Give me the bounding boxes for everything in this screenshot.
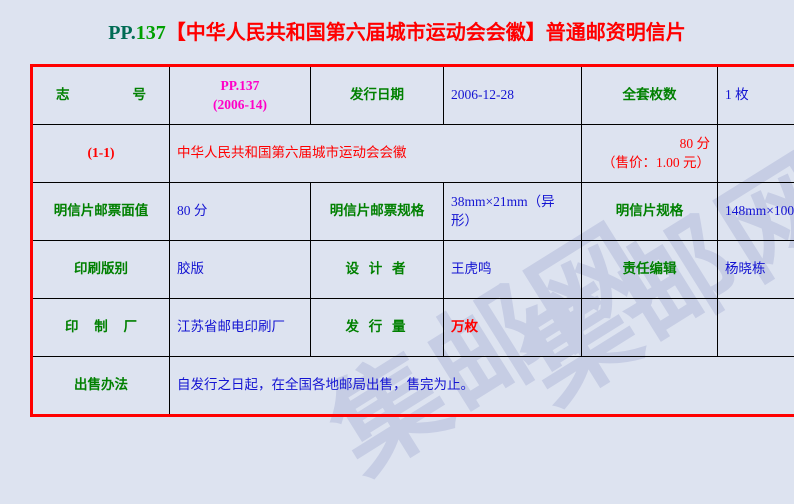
table-row: 出售办法自发行之日起，在全国各地邮局出售，售完为止。 (32, 357, 794, 416)
table-label-cell: 设 计 者 (311, 241, 444, 299)
stamp-info-table-body: 志 号PP.137(2006-14)发行日期2006-12-28全套枚数1 枚(… (32, 66, 794, 416)
table-value-cell: 38mm×21mm（异形） (444, 183, 582, 241)
stamp-info-table: 志 号PP.137(2006-14)发行日期2006-12-28全套枚数1 枚(… (30, 64, 794, 417)
table-label-cell: 明信片邮票规格 (311, 183, 444, 241)
table-value-cell: 80 分（售价：1.00 元） (582, 125, 718, 183)
table-value-cell: 自发行之日起，在全国各地邮局出售，售完为止。 (170, 357, 794, 416)
table-label-cell: 明信片规格 (582, 183, 718, 241)
table-label-cell: 责任编辑 (582, 241, 718, 299)
table-row: (1-1)中华人民共和国第六届城市运动会会徽80 分（售价：1.00 元）万枚 (32, 125, 794, 183)
table-value-cell: 胶版 (170, 241, 311, 299)
title-prefix-number: 137 (136, 22, 166, 44)
table-label-cell: 发行日期 (311, 66, 444, 125)
table-label-cell: 志 号 (32, 66, 170, 125)
table-value-cell: 148mm×100mm (718, 183, 794, 241)
table-value-cell: PP.137(2006-14) (170, 66, 311, 125)
table-row: 明信片邮票面值80 分明信片邮票规格38mm×21mm（异形）明信片规格148m… (32, 183, 794, 241)
table-value-cell: 江苏省邮电印刷厂 (170, 299, 311, 357)
table-row: 印刷版别胶版设 计 者王虎鸣责任编辑杨晓栋 (32, 241, 794, 299)
table-label-cell: 发 行 量 (311, 299, 444, 357)
title-prefix-pp: PP. (108, 22, 136, 44)
table-value-cell (582, 299, 718, 357)
table-value-cell: 中华人民共和国第六届城市运动会会徽 (170, 125, 582, 183)
table-label-cell: 印 制 厂 (32, 299, 170, 357)
table-value-cell: 80 分 (170, 183, 311, 241)
table-value-cell: 杨晓栋 (718, 241, 794, 299)
page-title: PP.137【中华人民共和国第六届城市运动会会徽】普通邮资明信片 (0, 16, 794, 45)
table-value-cell: 万枚 (444, 299, 582, 357)
table-label-cell: 全套枚数 (582, 66, 718, 125)
table-label-cell: 明信片邮票面值 (32, 183, 170, 241)
table-value-cell (718, 299, 794, 357)
table-value-cell: 1 枚 (718, 66, 794, 125)
title-main-text: 【中华人民共和国第六届城市运动会会徽】普通邮资明信片 (166, 22, 686, 44)
table-value-cell: 万枚 (718, 125, 794, 183)
table-value-cell: (1-1) (32, 125, 170, 183)
table-value-cell: 2006-12-28 (444, 66, 582, 125)
table-row: 志 号PP.137(2006-14)发行日期2006-12-28全套枚数1 枚 (32, 66, 794, 125)
table-value-cell: 王虎鸣 (444, 241, 582, 299)
table-label-cell: 印刷版别 (32, 241, 170, 299)
table-label-cell: 出售办法 (32, 357, 170, 416)
table-row: 印 制 厂江苏省邮电印刷厂发 行 量万枚 (32, 299, 794, 357)
